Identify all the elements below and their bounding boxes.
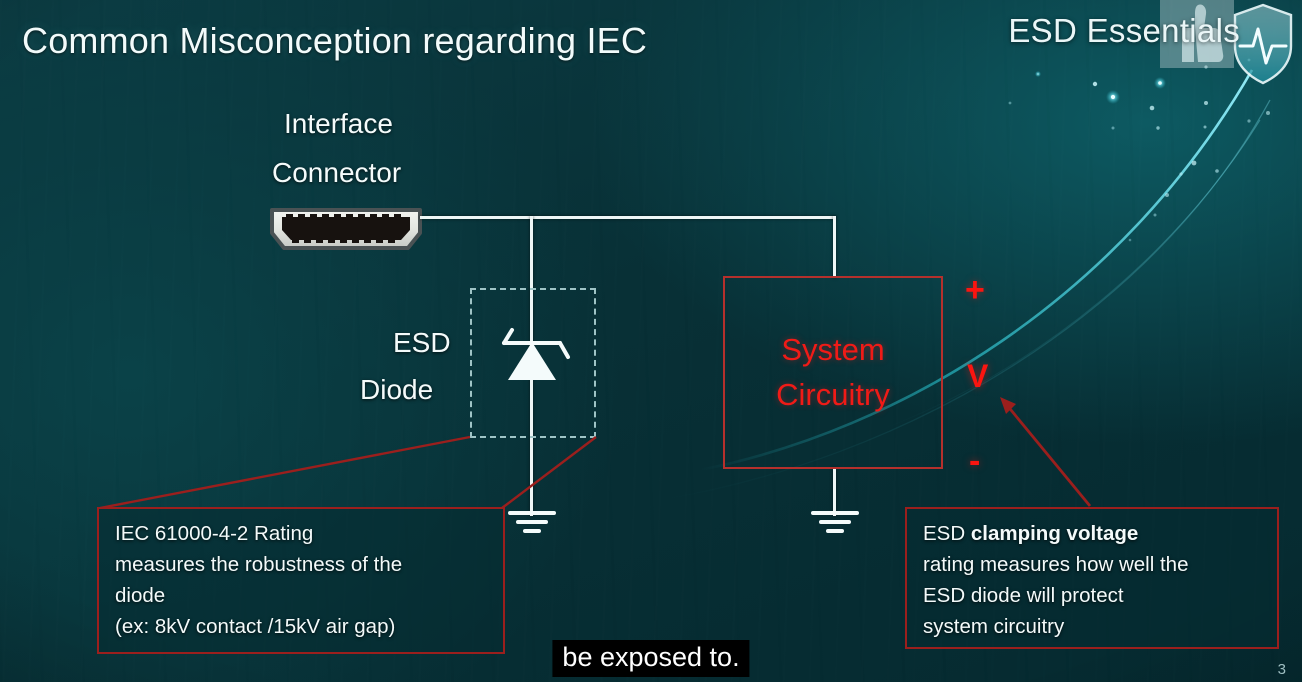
ground-icon-diode (506, 508, 558, 538)
interface-connector-label-line2: Connector (272, 157, 401, 189)
page-number: 3 (1278, 661, 1286, 678)
page-title: Common Misconception regarding IEC (22, 20, 647, 62)
ground-icon-system (809, 508, 861, 538)
system-circuitry-box: System Circuitry (723, 276, 943, 469)
iec-rating-line3: diode (115, 581, 489, 612)
esd-diode-label-line2: Diode (360, 374, 433, 406)
clamping-voltage-line3: ESD diode will protect (923, 581, 1263, 612)
hdmi-connector-icon (268, 205, 424, 253)
clamping-voltage-line1: ESD clamping voltage (923, 519, 1263, 550)
zener-diode-icon (486, 318, 578, 398)
wire-top-horizontal (420, 216, 836, 219)
clamping-voltage-line2: rating measures how well the (923, 550, 1263, 581)
interface-connector-label-line1: Interface (284, 108, 393, 140)
system-circuitry-label-line1: System (781, 328, 884, 373)
iec-rating-line1: IEC 61000-4-2 Rating (115, 519, 489, 550)
polarity-plus-label: + (965, 271, 985, 310)
clamping-voltage-line1-prefix: ESD (923, 522, 971, 545)
clamping-voltage-line4: system circuitry (923, 612, 1263, 643)
clamping-voltage-line1-bold: clamping voltage (971, 522, 1138, 545)
system-circuitry-label-line2: Circuitry (776, 373, 890, 418)
polarity-voltage-label: V (967, 358, 988, 395)
clamping-voltage-callout: ESD clamping voltage rating measures how… (905, 507, 1279, 649)
iec-rating-line2: measures the robustness of the (115, 550, 489, 581)
brand-label: ESD Essentials (1008, 12, 1240, 50)
iec-rating-line4: (ex: 8kV contact /15kV air gap) (115, 612, 489, 643)
esd-diode-label-line1: ESD (393, 327, 451, 359)
polarity-minus-label: - (969, 442, 980, 481)
iec-rating-callout: IEC 61000-4-2 Rating measures the robust… (97, 507, 505, 654)
wire-system-branch (833, 216, 836, 278)
video-caption: be exposed to. (552, 640, 749, 677)
slide-canvas: Common Misconception regarding IEC ESD E… (0, 0, 1302, 682)
